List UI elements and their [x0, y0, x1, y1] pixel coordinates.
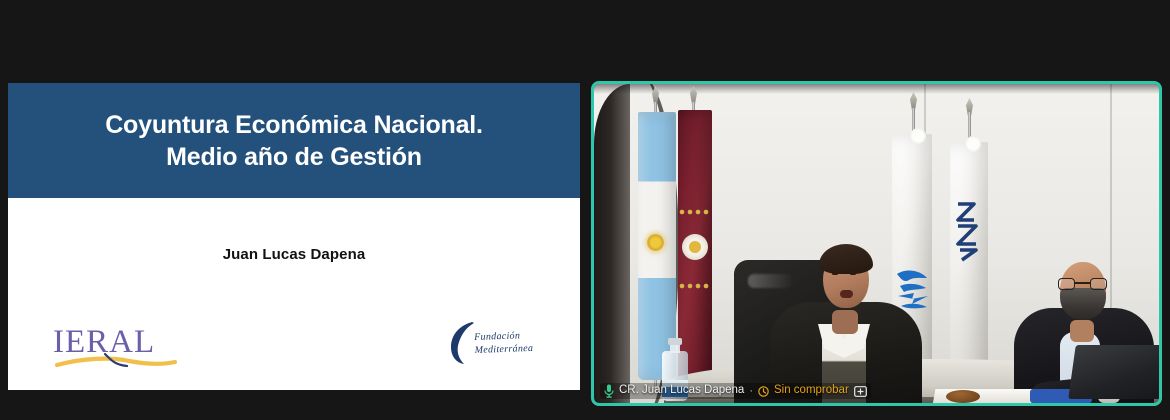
pin-screen-icon[interactable]: [854, 386, 867, 397]
glasses-bridge: [1075, 282, 1090, 284]
microphone-icon[interactable]: [604, 384, 614, 398]
participant-video-tile[interactable]: CR. Juan Lucas Dapena · Sin comprobar: [591, 81, 1162, 406]
video-frame: CR. Juan Lucas Dapena · Sin comprobar: [594, 84, 1159, 403]
chevron-emblem-icon: [952, 198, 986, 264]
meeting-stage: Coyuntura Económica Nacional. Medio año …: [0, 0, 1170, 420]
shared-screen-slide[interactable]: Coyuntura Económica Nacional. Medio año …: [8, 83, 580, 390]
slide-body: Juan Lucas Dapena IERAL Fundación Medite…: [8, 198, 580, 390]
participant-name-bar[interactable]: CR. Juan Lucas Dapena · Sin comprobar: [600, 383, 871, 399]
flag-knot: [965, 136, 981, 152]
ieral-logo-swoosh: [53, 352, 177, 370]
corrientes-dots: [678, 208, 712, 216]
fm-logo-text: Fundación Mediterránea: [474, 330, 533, 357]
fundacion-mediterranea-logo: Fundación Mediterránea: [448, 320, 546, 368]
pastry-plate: [946, 390, 980, 403]
speaker-eye: [832, 272, 838, 275]
speaker-person: [770, 242, 922, 403]
corrientes-emblem: [682, 234, 708, 260]
glasses-icon: [1058, 278, 1108, 290]
unverified-status-label: Sin comprobar: [774, 385, 849, 397]
participant-display-name: CR. Juan Lucas Dapena: [619, 385, 744, 397]
laptop: [1068, 345, 1159, 399]
corrientes-dots: [678, 282, 712, 290]
speaker-mouth: [840, 290, 853, 298]
name-bar-separator: ·: [749, 386, 753, 397]
speaker-hair: [819, 244, 873, 274]
institutional-flag-2: [948, 98, 990, 402]
argentina-sun-emblem: [647, 234, 664, 251]
flag-knot: [910, 128, 926, 144]
assistant-neck: [1070, 320, 1094, 342]
slide-author: Juan Lucas Dapena: [8, 246, 580, 263]
slide-title: Coyuntura Económica Nacional. Medio año …: [91, 109, 497, 173]
glasses-lens: [1058, 278, 1075, 290]
speaker-neck: [832, 310, 858, 334]
ieral-logo: IERAL: [53, 326, 177, 372]
glasses-lens: [1090, 278, 1107, 290]
clock-unverified-icon[interactable]: [758, 386, 769, 397]
bottle-cap: [668, 338, 682, 345]
slide-header-band: Coyuntura Económica Nacional. Medio año …: [8, 83, 580, 198]
speaker-eye: [850, 272, 856, 275]
